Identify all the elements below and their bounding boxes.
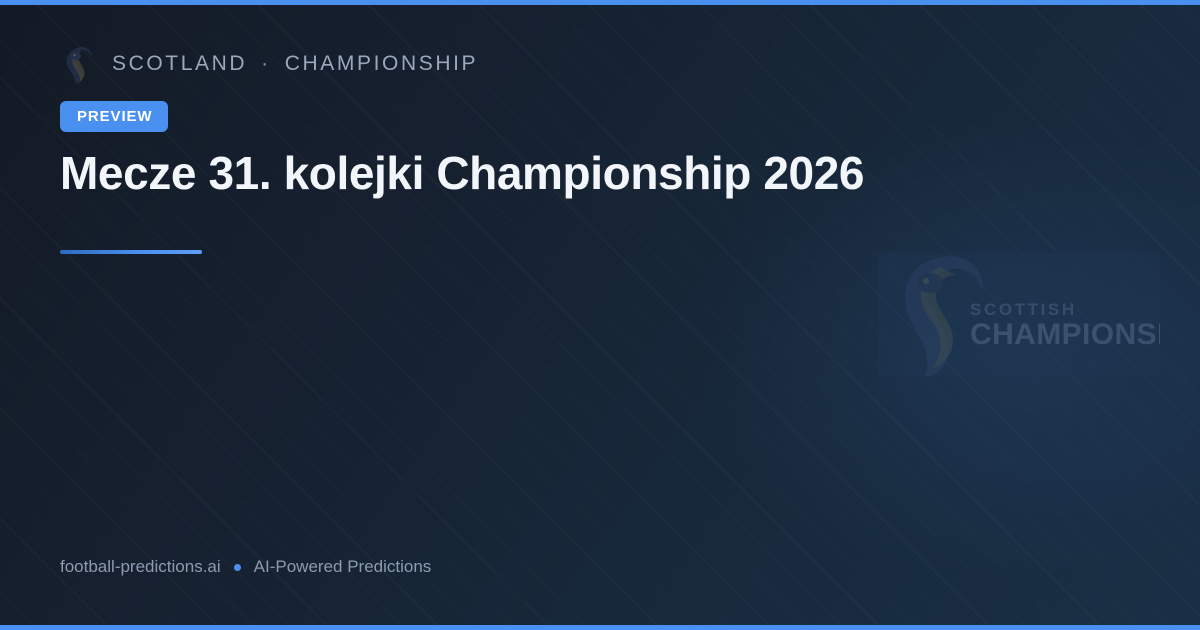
preview-badge: PREVIEW	[60, 101, 168, 132]
scottish-championship-lion-logo-icon	[60, 44, 100, 84]
footer-site-label: football-predictions.ai	[60, 557, 221, 577]
league-competition-label: CHAMPIONSHIP	[285, 52, 478, 76]
league-separator: ·	[259, 52, 273, 76]
og-preview-card: SCOTTISH CHAMPIONSHIP SCOTLAND · CHAMPIO…	[0, 0, 1200, 630]
league-country-label: SCOTLAND	[112, 52, 247, 76]
page-title: Mecze 31. kolejki Championship 2026	[60, 145, 1090, 201]
bullet-dot-icon	[234, 564, 241, 571]
footer-tagline-label: AI-Powered Predictions	[254, 557, 432, 577]
title-accent-bar	[60, 250, 202, 254]
league-breadcrumb: SCOTLAND · CHAMPIONSHIP	[60, 44, 478, 84]
footer: football-predictions.ai AI-Powered Predi…	[60, 557, 431, 577]
card-content: SCOTLAND · CHAMPIONSHIP PREVIEW Mecze 31…	[60, 0, 1140, 630]
